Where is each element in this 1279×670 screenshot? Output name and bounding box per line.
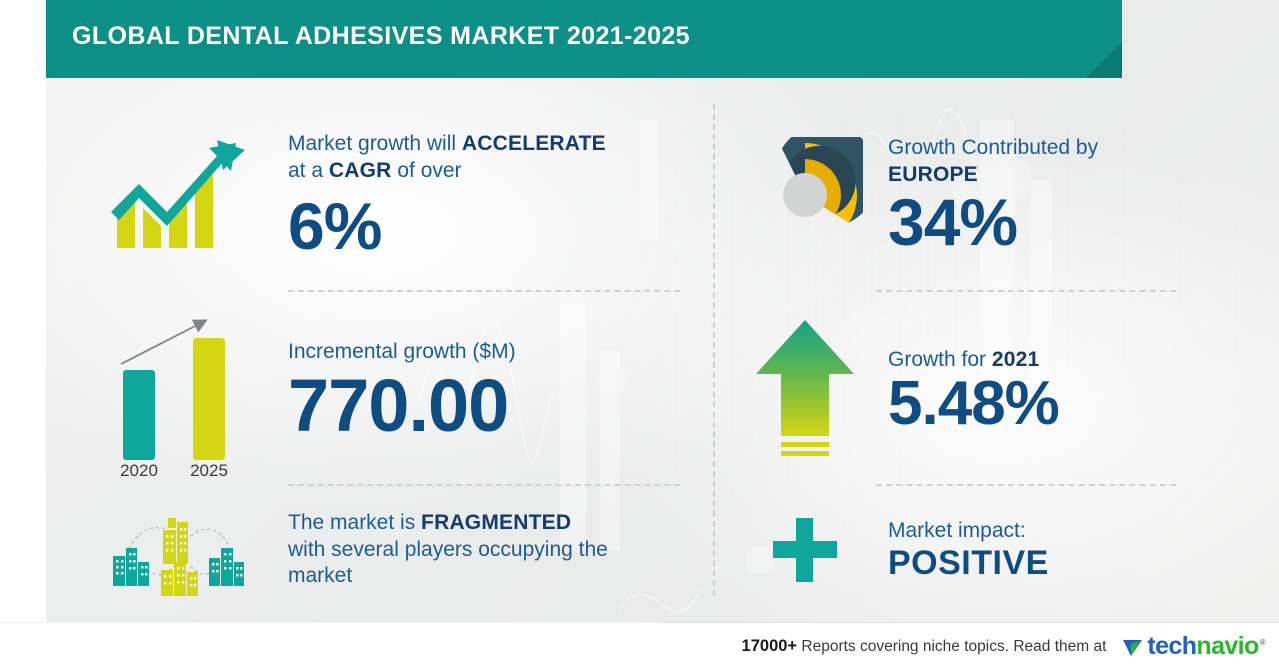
growth-bar-chart-arrow-icon <box>100 130 260 260</box>
market-impact-caption: Market impact: <box>888 518 1160 545</box>
technavio-logo-tech: tech <box>1147 632 1196 660</box>
regional-contribution-value: 34% <box>888 189 1160 255</box>
footer-left-fill <box>0 622 660 670</box>
page-title: GLOBAL DENTAL ADHESIVES MARKET 2021-2025 <box>72 22 690 51</box>
stat-block-market-impact: Market impact: POSITIVE <box>740 490 1160 610</box>
fragmentation-line3: market <box>288 564 352 587</box>
bar-label-2020: 2020 <box>120 461 158 476</box>
plus-icon <box>740 510 870 590</box>
cagr-caption-line2-suffix: of over <box>392 159 462 182</box>
stat-block-incremental-growth: 2020 2025 Incremental growth ($M) 770.00 <box>100 296 700 486</box>
bar-2020 <box>123 370 155 460</box>
fragmentation-keyword: FRAGMENTED <box>421 511 571 534</box>
fragmentation-line1-prefix: The market is <box>288 511 421 534</box>
footer-caption: 17000+ Reports covering niche topics. Re… <box>742 637 1107 656</box>
market-impact-text: Market impact: POSITIVE <box>870 518 1160 582</box>
bar-label-2025: 2025 <box>190 461 228 476</box>
two-bar-growth-icon: 2020 2025 <box>100 306 260 476</box>
market-impact-value: POSITIVE <box>888 545 1160 582</box>
fragmentation-caption: The market is FRAGMENTED with several pl… <box>288 510 700 591</box>
incremental-growth-value: 770.00 <box>288 369 700 443</box>
yearly-growth-text: Growth for 2021 5.48% <box>870 347 1160 436</box>
buildings-network-icon-svg <box>105 500 255 600</box>
column-divider <box>713 104 715 596</box>
fragmentation-text: The market is FRAGMENTED with several pl… <box>260 510 700 591</box>
cagr-caption: Market growth will ACCELERATE at a CAGR … <box>288 131 700 185</box>
technavio-logo-navio: navio <box>1196 632 1258 660</box>
plus-icon-svg <box>765 510 845 590</box>
right-row-divider-1 <box>876 290 1176 292</box>
infographic-canvas: GLOBAL DENTAL ADHESIVES MARKET 2021-2025 <box>0 0 1279 670</box>
content-area: Market growth will ACCELERATE at a CAGR … <box>0 78 1279 618</box>
footer-bar: 17000+ Reports covering niche topics. Re… <box>660 622 1279 670</box>
technavio-logo-trademark: ® <box>1260 638 1265 647</box>
left-row-divider-1 <box>288 290 680 292</box>
regional-contribution-text: Growth Contributed by EUROPE 34% <box>870 135 1160 255</box>
fragmentation-line2: with several players occupying the <box>288 538 608 561</box>
footer-message: Reports covering niche topics. Read them… <box>801 638 1106 655</box>
technavio-logo-text: technavio® <box>1147 634 1265 659</box>
cagr-caption-accelerate: ACCELERATE <box>462 132 606 155</box>
two-bar-growth-icon-svg: 2020 2025 <box>105 306 255 476</box>
cagr-caption-cagr: CAGR <box>329 159 392 182</box>
footer-report-count: 17000+ <box>742 637 798 655</box>
technavio-logo[interactable]: technavio® <box>1122 634 1265 659</box>
up-arrow-gradient-icon <box>740 316 870 466</box>
technavio-logo-mark-icon <box>1122 635 1144 659</box>
yearly-growth-value: 5.48% <box>888 373 1160 435</box>
stat-block-cagr: Market growth will ACCELERATE at a CAGR … <box>100 100 700 290</box>
donut-chart-icon <box>740 137 870 253</box>
cagr-caption-line1-prefix: Market growth will <box>288 132 462 155</box>
yearly-growth-year: 2021 <box>992 348 1040 371</box>
stat-block-fragmentation: The market is FRAGMENTED with several pl… <box>100 490 700 610</box>
stat-block-regional-contribution: Growth Contributed by EUROPE 34% <box>740 100 1160 290</box>
stat-block-yearly-growth: Growth for 2021 5.48% <box>740 296 1160 486</box>
cagr-caption-line2-prefix: at a <box>288 159 329 182</box>
incremental-growth-caption: Incremental growth ($M) <box>288 339 700 366</box>
cagr-text: Market growth will ACCELERATE at a CAGR … <box>260 131 700 259</box>
cagr-value: 6% <box>288 193 700 259</box>
header-banner: GLOBAL DENTAL ADHESIVES MARKET 2021-2025 <box>46 0 1122 78</box>
incremental-growth-text: Incremental growth ($M) 770.00 <box>260 339 700 444</box>
regional-caption-line1: Growth Contributed by <box>888 136 1098 159</box>
yearly-growth-label: Growth for <box>888 348 986 371</box>
up-arrow-gradient-icon-svg <box>750 316 860 466</box>
growth-bar-chart-arrow-icon-svg <box>105 130 255 260</box>
header-fold-corner <box>1086 42 1122 78</box>
donut-chart-icon-svg <box>747 137 863 253</box>
buildings-network-icon <box>100 500 260 600</box>
regional-caption-region: EUROPE <box>888 163 978 186</box>
regional-contribution-caption: Growth Contributed by EUROPE <box>888 135 1160 189</box>
bar-2025 <box>193 338 225 460</box>
